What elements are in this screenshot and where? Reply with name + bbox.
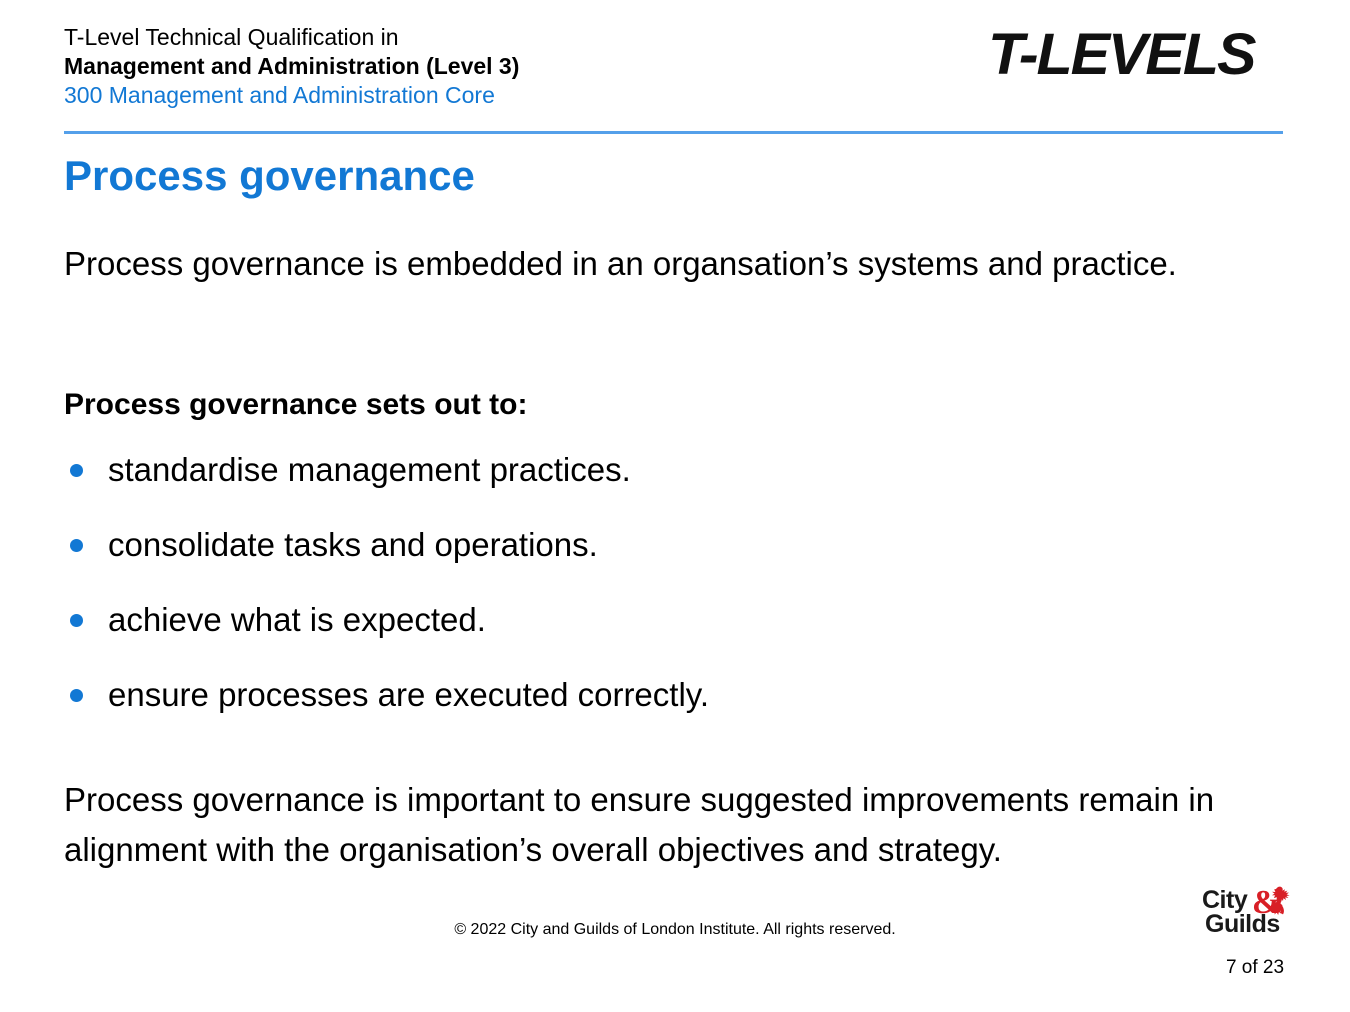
intro-paragraph: Process governance is embedded in an org… xyxy=(64,240,1244,287)
page-number: 7 of 23 xyxy=(1205,957,1305,979)
header-title-block: T-Level Technical Qualification in Manag… xyxy=(64,23,519,110)
unit-line: 300 Management and Administration Core xyxy=(64,81,519,110)
page-title: Process governance xyxy=(64,152,475,200)
bullet-dot-icon xyxy=(70,539,83,552)
list-item-label: consolidate tasks and operations. xyxy=(108,526,598,563)
list-item-label: ensure processes are executed correctly. xyxy=(108,676,709,713)
sets-out-heading: Process governance sets out to: xyxy=(64,388,527,422)
closing-paragraph: Process governance is important to ensur… xyxy=(64,775,1244,875)
list-item-label: achieve what is expected. xyxy=(108,601,486,638)
list-item: achieve what is expected. xyxy=(64,600,1244,675)
copyright-notice: © 2022 City and Guilds of London Institu… xyxy=(0,921,1350,939)
lion-rampant-icon xyxy=(1264,885,1294,917)
subject-line: Management and Administration (Level 3) xyxy=(64,52,519,81)
bullet-dot-icon xyxy=(70,689,83,702)
bullet-list: standardise management practices. consol… xyxy=(64,450,1244,750)
city-and-guilds-logo: City Guilds & xyxy=(1202,887,1294,941)
bullet-dot-icon xyxy=(70,464,83,477)
header-divider xyxy=(64,131,1283,134)
list-item-label: standardise management practices. xyxy=(108,451,631,488)
slide-header: T-Level Technical Qualification in Manag… xyxy=(0,0,1350,140)
t-levels-logo-text: T-LEVELS xyxy=(988,24,1290,86)
bullet-dot-icon xyxy=(70,614,83,627)
qualification-line: T-Level Technical Qualification in xyxy=(64,23,519,52)
list-item: consolidate tasks and operations. xyxy=(64,525,1244,600)
list-item: ensure processes are executed correctly. xyxy=(64,675,1244,750)
list-item: standardise management practices. xyxy=(64,450,1244,525)
t-levels-logo: T-LEVELS xyxy=(988,24,1284,86)
